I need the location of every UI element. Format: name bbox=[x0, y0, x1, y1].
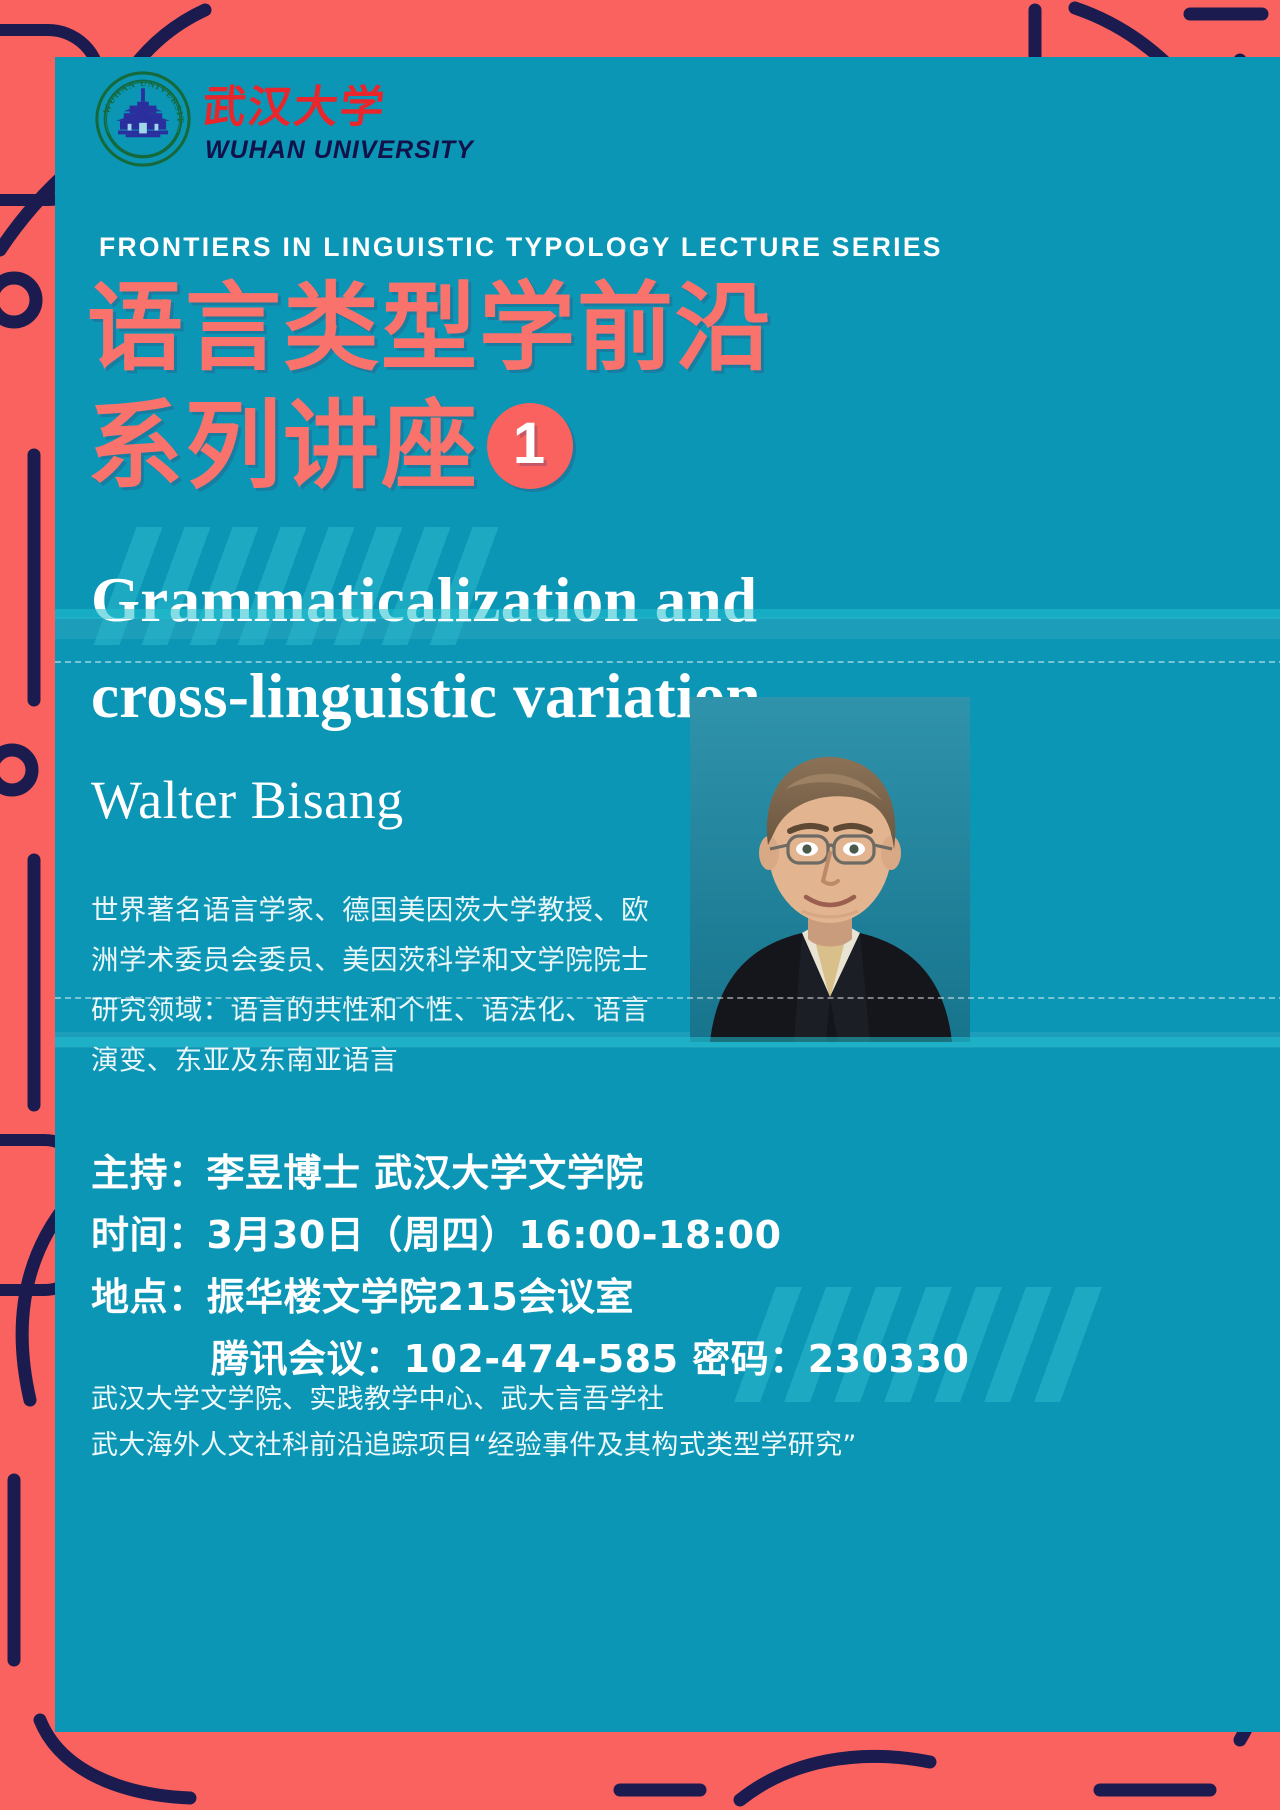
university-name-cn: 武汉大学 bbox=[205, 78, 415, 134]
footer-line: 武大海外人文社科前沿追踪项目“经验事件及其构式类型学研究” bbox=[91, 1423, 1241, 1469]
speaker-bio: 世界著名语言学家、德国美因茨大学教授、欧 洲学术委员会委员、美因茨科学和文学院院… bbox=[91, 885, 731, 1085]
poster-panel: WUHAN UNIVERSITY bbox=[55, 57, 1280, 1732]
university-name-en: WUHAN UNIVERSITY bbox=[205, 136, 474, 165]
detail-time: 时间：3月30日（周四）16:00-18:00 bbox=[91, 1204, 1241, 1266]
headline-chinese: 语言类型学前沿 系列讲座 1 bbox=[87, 269, 773, 505]
university-logo: WUHAN UNIVERSITY bbox=[95, 71, 474, 167]
divider-solid-title bbox=[55, 609, 1280, 619]
bio-line: 洲学术委员会委员、美因茨科学和文学院院士 bbox=[91, 935, 731, 985]
lecture-title-line-1: Grammaticalization and bbox=[91, 552, 1091, 648]
headline-line-2: 系列讲座 bbox=[87, 387, 479, 505]
divider-dashed-bio bbox=[55, 997, 1280, 999]
organizers-footer: 武汉大学文学院、实践教学中心、武大言吾学社 武大海外人文社科前沿追踪项目“经验事… bbox=[91, 1377, 1241, 1469]
series-kicker: FRONTIERS IN LINGUISTIC TYPOLOGY LECTURE… bbox=[99, 232, 943, 263]
svg-text:武汉大学: 武汉大学 bbox=[205, 82, 389, 133]
bio-line: 世界著名语言学家、德国美因茨大学教授、欧 bbox=[91, 885, 731, 935]
footer-line: 武汉大学文学院、实践教学中心、武大言吾学社 bbox=[91, 1377, 1241, 1423]
detail-host: 主持：李昱博士 武汉大学文学院 bbox=[91, 1142, 1241, 1204]
divider-solid-bio bbox=[55, 1037, 1280, 1047]
speaker-portrait-photo bbox=[690, 697, 970, 1042]
speaker-name: Walter Bisang bbox=[91, 769, 404, 831]
event-details: 主持：李昱博士 武汉大学文学院 时间：3月30日（周四）16:00-18:00 … bbox=[91, 1142, 1241, 1390]
lecture-number-badge: 1 bbox=[487, 403, 573, 489]
wuhan-university-seal-icon: WUHAN UNIVERSITY bbox=[95, 71, 191, 167]
headline-line-1: 语言类型学前沿 bbox=[87, 269, 773, 387]
detail-venue: 地点：振华楼文学院215会议室 bbox=[91, 1266, 1241, 1328]
bio-line: 研究领域：语言的共性和个性、语法化、语言 bbox=[91, 985, 731, 1035]
divider-dashed-title bbox=[55, 661, 1280, 663]
